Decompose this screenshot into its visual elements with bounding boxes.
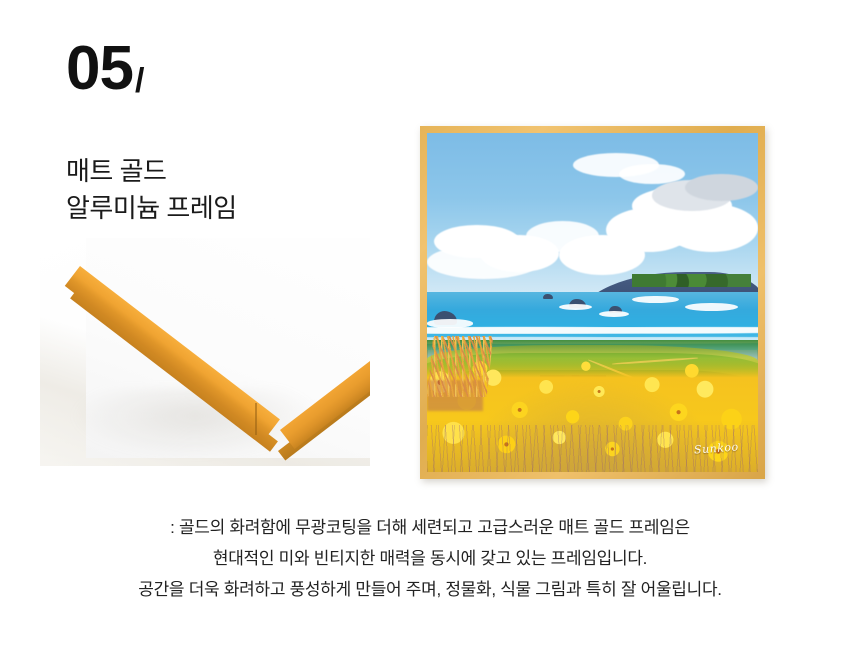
- page-title-line2: 알루미늄 프레임: [66, 190, 237, 227]
- frame-miter-seam: [255, 403, 257, 435]
- headland-trees: [632, 274, 751, 288]
- section-number-value: 05: [66, 38, 133, 100]
- cloud: [427, 245, 540, 279]
- cloud: [685, 174, 758, 201]
- section-number: 05/: [66, 38, 143, 100]
- description-line2: 현대적인 미와 빈티지한 매력을 동시에 갖고 있는 프레임입니다.: [0, 543, 860, 574]
- section-number-slash: /: [135, 64, 143, 98]
- surf-foam: [685, 303, 738, 311]
- cloud: [665, 204, 758, 251]
- grass-tuft: [427, 336, 493, 397]
- page-title-line1: 매트 골드: [66, 153, 237, 190]
- surf-line: [427, 326, 758, 334]
- surf-foam: [632, 296, 678, 303]
- artwork-canvas: Sunkoo: [427, 133, 758, 472]
- framed-artwork: Sunkoo: [420, 126, 765, 479]
- description-block: : 골드의 화려함에 무광코팅을 더해 세련되고 고급스러운 매트 골드 프레임…: [0, 512, 860, 605]
- frame-corner-photo: [40, 238, 370, 466]
- page-title: 매트 골드 알루미늄 프레임: [66, 153, 237, 227]
- description-line3: 공간을 더욱 화려하고 풍성하게 만들어 주며, 정물화, 식물 그림과 특히 …: [0, 574, 860, 605]
- sea-rock: [543, 294, 553, 299]
- surf-foam: [599, 311, 629, 317]
- description-line1: : 골드의 화려함에 무광코팅을 더해 세련되고 고급스러운 매트 골드 프레임…: [0, 512, 860, 543]
